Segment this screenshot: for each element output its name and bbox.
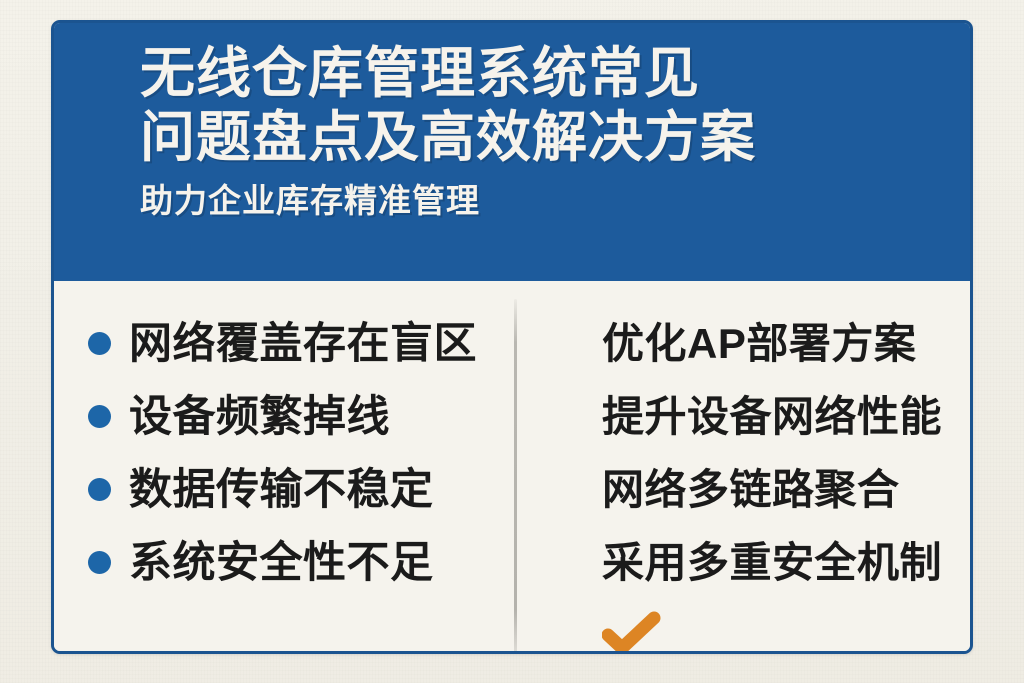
list-item: 设备频繁掉线: [88, 380, 508, 453]
problem-label: 网络覆盖存在盲区: [129, 319, 477, 369]
solution-label: 提升设备网络性能: [602, 392, 942, 442]
page-subtitle: 助力企业库存精准管理: [140, 181, 950, 221]
list-item: 网络覆盖存在盲区: [88, 307, 508, 380]
check-icon: [602, 611, 662, 654]
header-text-block: 无线仓库管理系统常见 问题盘点及高效解决方案 助力企业库存精准管理: [140, 41, 950, 221]
problems-column: 网络覆盖存在盲区 设备频繁掉线 数据传输不稳定 系统安全性不足: [88, 307, 508, 599]
bullet-dot-icon: [88, 551, 111, 574]
list-item: 系统安全性不足: [88, 526, 508, 599]
page-title-line-1: 无线仓库管理系统常见: [140, 41, 950, 105]
bullet-dot-icon: [88, 332, 111, 355]
list-item: 提升设备网络性能: [602, 380, 973, 453]
problem-label: 系统安全性不足: [129, 538, 434, 588]
list-item: 数据传输不稳定: [88, 453, 508, 526]
bullet-dot-icon: [88, 478, 111, 501]
bullet-dot-icon: [88, 405, 111, 428]
solution-label: 优化AP部署方案: [602, 319, 916, 369]
card-body: 网络覆盖存在盲区 设备频繁掉线 数据传输不稳定 系统安全性不足 优化AP部署方案…: [54, 281, 970, 651]
problem-label: 设备频繁掉线: [129, 392, 390, 442]
list-item: 采用多重安全机制: [602, 526, 973, 599]
page-title-line-2: 问题盘点及高效解决方案: [140, 105, 950, 169]
solution-label: 采用多重安全机制: [602, 538, 942, 588]
column-divider: [514, 299, 517, 654]
solution-label: 网络多链路聚合: [602, 465, 900, 515]
solutions-column: 优化AP部署方案 提升设备网络性能 网络多链路聚合 采用多重安全机制: [602, 307, 973, 599]
list-item: 优化AP部署方案: [602, 307, 973, 380]
problem-label: 数据传输不稳定: [129, 465, 434, 515]
infographic-card: 无线仓库管理系统常见 问题盘点及高效解决方案 助力企业库存精准管理 网络覆盖存在…: [51, 20, 973, 654]
list-item: 网络多链路聚合: [602, 453, 973, 526]
card-header: 无线仓库管理系统常见 问题盘点及高效解决方案 助力企业库存精准管理: [54, 23, 970, 281]
